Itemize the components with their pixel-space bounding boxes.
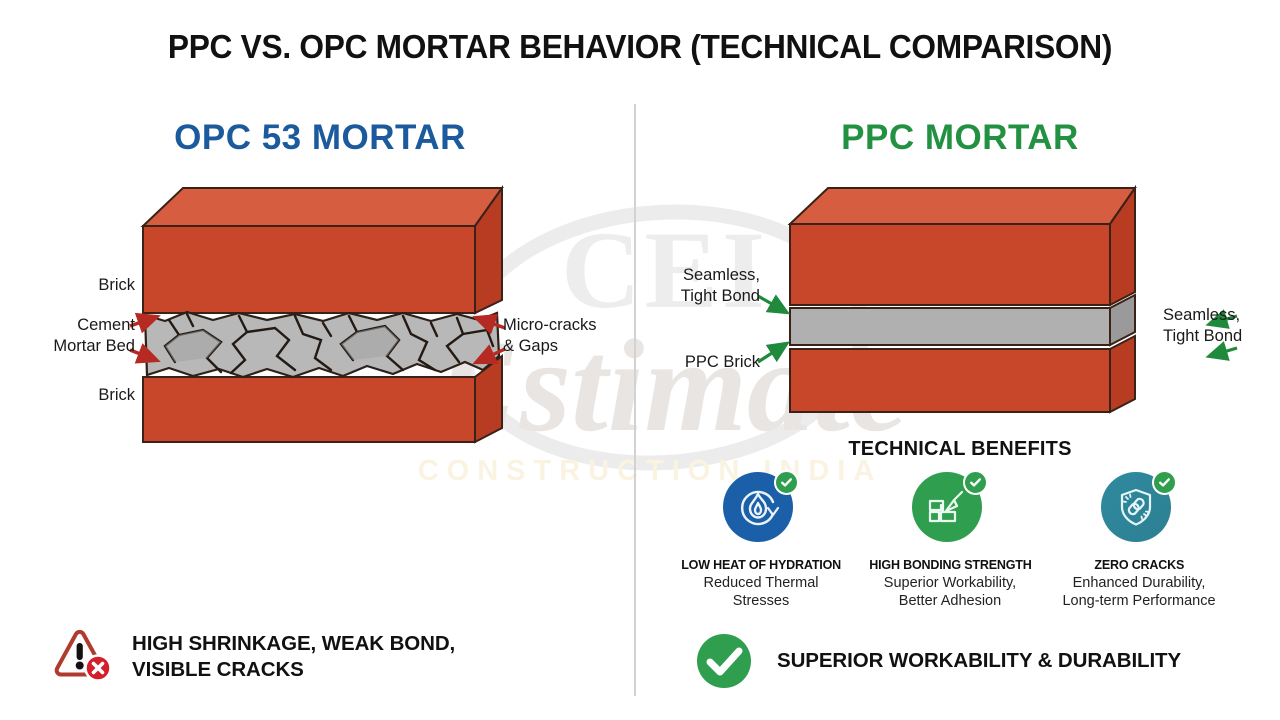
label-ppc-brick: PPC Brick (620, 352, 760, 373)
opc-column-heading: OPC 53 MORTAR (100, 118, 540, 158)
arrow-bond-right-lower (1210, 348, 1237, 356)
technical-benefits-title: TECHNICAL BENEFITS (740, 438, 1180, 461)
vertical-divider (634, 104, 636, 696)
exclamation-bar (77, 643, 83, 660)
benefit-low-heat-of-hydration: LOW HEAT OF HYDRATION Reduced Thermal St… (672, 472, 850, 610)
label-brick-bottom: Brick (10, 385, 135, 406)
check-glyph (969, 476, 982, 489)
arrow-ppc-brick (758, 344, 786, 362)
arrow-cracks-upper (477, 318, 505, 328)
warning-triangle-icon (52, 628, 114, 686)
benefit-icon-wrapper (723, 472, 799, 548)
opc-annotation-arrows (120, 300, 520, 380)
ppc-column-heading: PPC MORTAR (740, 118, 1180, 158)
benefit-title: HIGH BONDING STRENGTH (869, 557, 1031, 572)
label-seamless-tight-bond-left: Seamless, Tight Bond (620, 265, 760, 307)
label-brick-top: Brick (10, 275, 135, 296)
benefit-icon-wrapper (912, 472, 988, 548)
check-badge-icon (774, 470, 799, 495)
technical-benefits-list: LOW HEAT OF HYDRATION Reduced Thermal St… (672, 472, 1228, 610)
label-seamless-tight-bond-right: Seamless, Tight Bond (1163, 305, 1280, 347)
check-circle-bg (697, 634, 751, 688)
ppc-summary-callout: SUPERIOR WORKABILITY & DURABILITY (695, 632, 1181, 690)
benefit-title: LOW HEAT OF HYDRATION (681, 557, 841, 572)
label-cement-mortar-bed: Cement Mortar Bed (0, 315, 135, 357)
arrow-cracks-lower (477, 349, 505, 362)
trowel-brickwall-glyph (924, 484, 970, 530)
opc-summary-callout: HIGH SHRINKAGE, WEAK BOND, VISIBLE CRACK… (52, 628, 455, 686)
arrow-bond-left (758, 296, 786, 312)
lower-brick-front-face (143, 377, 475, 442)
upper-brick-top-face (143, 188, 502, 226)
ppc-summary-text: SUPERIOR WORKABILITY & DURABILITY (777, 648, 1181, 674)
infographic-canvas: CEI Estimate CONSTRUCTION INDIA PPC VS. … (0, 0, 1280, 720)
check-circle-icon (695, 632, 753, 690)
check-badge-icon (1152, 470, 1177, 495)
benefit-high-bonding-strength: HIGH BONDING STRENGTH Superior Workabili… (861, 472, 1039, 610)
shield-chainlink-glyph (1113, 484, 1159, 530)
page-title: PPC VS. OPC MORTAR BEHAVIOR (TECHNICAL C… (26, 28, 1255, 66)
ppc-upper-brick-top-face (790, 188, 1135, 224)
benefit-subtitle: Reduced Thermal Stresses (704, 575, 819, 610)
benefit-subtitle: Superior Workability, Better Adhesion (884, 575, 1016, 610)
benefit-icon-wrapper (1101, 472, 1177, 548)
benefit-title: ZERO CRACKS (1094, 557, 1184, 572)
flame-cycle-glyph (735, 484, 781, 530)
opc-summary-text: HIGH SHRINKAGE, WEAK BOND, VISIBLE CRACK… (132, 631, 455, 683)
exclamation-dot (76, 662, 84, 670)
benefit-zero-cracks: ZERO CRACKS Enhanced Durability, Long-te… (1050, 472, 1228, 610)
check-badge-icon (963, 470, 988, 495)
check-glyph (1158, 476, 1171, 489)
benefit-subtitle: Enhanced Durability, Long-term Performan… (1062, 575, 1215, 610)
label-micro-cracks: Micro-cracks & Gaps (503, 315, 663, 357)
check-glyph (780, 476, 793, 489)
